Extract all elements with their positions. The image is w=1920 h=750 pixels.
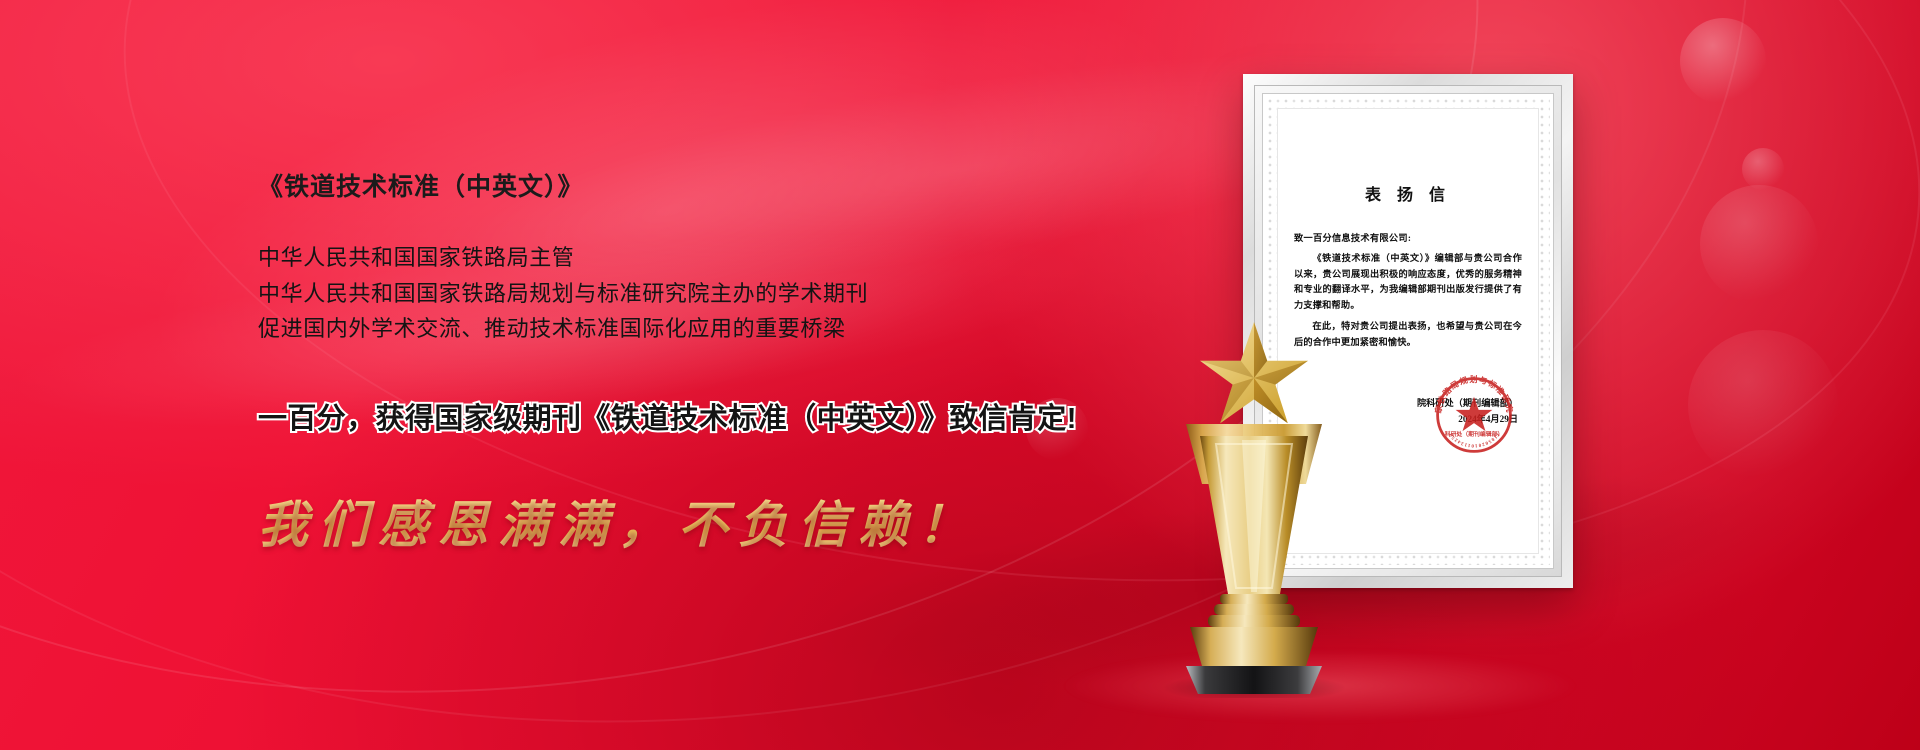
promo-banner: 《铁道技术标准（中英文）》 中华人民共和国国家铁路局主管 中华人民共和国国家铁路… [0, 0, 1920, 750]
banner-headline: 一百分，获得国家级期刊《铁道技术标准（中英文）》致信肯定! [258, 395, 1158, 437]
svg-text:科研处（期刊编辑部）: 科研处（期刊编辑部） [1445, 430, 1504, 438]
journal-subline-2: 中华人民共和国国家铁路局规划与标准研究院主办的学术期刊 [258, 276, 1158, 312]
banner-text-block: 《铁道技术标准（中英文）》 中华人民共和国国家铁路局主管 中华人民共和国国家铁路… [258, 172, 1158, 557]
journal-title: 《铁道技术标准（中英文）》 [258, 172, 1158, 202]
red-official-seal-icon: 国家铁路局规划与标准研究院 1105020101134255 科研处（期刊编辑部… [1432, 373, 1516, 457]
letter-paragraph-1: 《铁道技术标准（中英文）》编辑部与贵公司合作以来，贵公司展现出积极的响应态度，优… [1294, 251, 1522, 314]
star-trophy-icon [1156, 316, 1352, 698]
banner-calligraphy-slogan: 我们感恩满满，不负信赖！ [258, 485, 1158, 557]
journal-subline-3: 促进国内外学术交流、推动技术标准国际化应用的重要桥梁 [258, 311, 1158, 347]
journal-subline-1: 中华人民共和国国家铁路局主管 [258, 240, 1158, 276]
letter-title: 表 扬 信 [1294, 181, 1522, 205]
letter-salutation: 致一百分信息技术有限公司: [1294, 232, 1522, 246]
